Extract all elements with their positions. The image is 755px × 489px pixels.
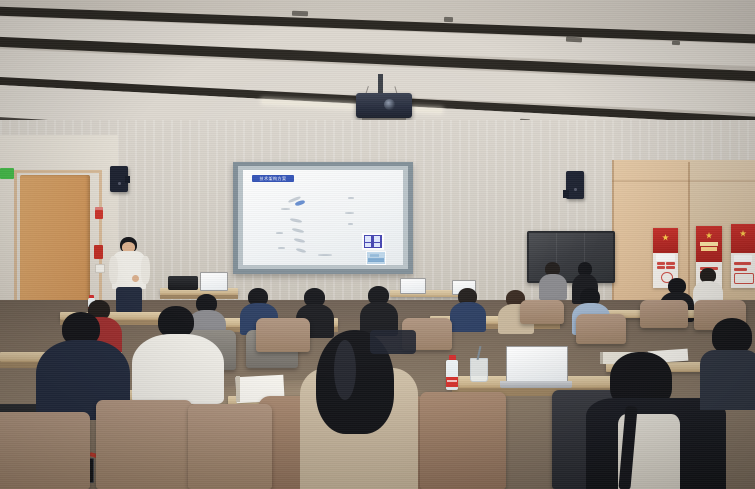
attendee-white-body	[132, 334, 224, 404]
slide-thumbnail-chart	[362, 233, 384, 250]
presenter-arm-right	[141, 256, 150, 284]
speaker-bracket-left	[125, 176, 130, 183]
exit-sign	[0, 168, 14, 179]
slide-thumbnail-image	[366, 251, 386, 265]
slide-title-text: 技术架构方案	[252, 175, 294, 182]
fire-alarm-box-upper	[95, 207, 103, 219]
attendee-edge-head	[712, 318, 752, 354]
chair[interactable]	[640, 300, 688, 328]
water-bottle[interactable]	[446, 360, 458, 390]
banner-header	[653, 228, 678, 253]
front-monitor	[200, 272, 228, 291]
laptop-open-base[interactable]	[500, 381, 572, 388]
presenter-hand	[132, 275, 139, 282]
drink-cup[interactable]	[470, 358, 488, 382]
wall-display[interactable]	[527, 231, 615, 283]
slide-mark-11	[345, 212, 354, 214]
banner-text-line	[666, 262, 674, 265]
attendee-right-back-body	[539, 274, 567, 300]
presenter-arm-left	[109, 256, 118, 284]
bottle-cap	[449, 355, 456, 360]
banner-headline	[700, 242, 719, 246]
slide-mark-10	[348, 197, 354, 199]
ceiling-spotlight-3	[566, 37, 582, 43]
attendee-foreground-woman-hairshine	[334, 340, 356, 400]
chair-foreground-left2[interactable]	[96, 400, 192, 489]
chair-foreground-right[interactable]	[420, 392, 506, 489]
entry-door[interactable]	[20, 175, 90, 305]
presenter-legs	[116, 287, 142, 313]
banner-headline-sub	[701, 247, 717, 251]
chair-foreground-left[interactable]	[0, 412, 90, 489]
chair-foreground-mid[interactable]	[188, 404, 272, 489]
banner-emblem-icon	[706, 232, 713, 239]
roll-up-banner-3	[731, 224, 755, 288]
backpack[interactable]	[370, 330, 416, 354]
bottle-label	[446, 377, 458, 387]
chair[interactable]	[520, 300, 564, 324]
projector-lens-icon	[384, 99, 395, 110]
slide-mark-12	[348, 223, 353, 225]
banner-caption-bar	[734, 255, 752, 262]
wood-panel-seam-3	[612, 180, 755, 182]
banner-text-line	[666, 266, 674, 269]
notebook-spine	[236, 376, 240, 402]
conference-room-photo: 技术架构方案	[0, 0, 755, 489]
bottle-cap	[89, 295, 94, 298]
wall-switch-plate[interactable]	[95, 264, 105, 273]
ceiling-spotlight-2	[444, 17, 453, 22]
fire-alarm-box-lower	[94, 245, 103, 259]
banner-box	[734, 273, 753, 284]
wood-panel-seam-1	[688, 162, 690, 310]
speaker-bracket-right	[563, 190, 569, 198]
banner-text-line	[657, 262, 665, 265]
banner-emblem-icon	[740, 230, 747, 237]
front-laptop	[168, 276, 198, 290]
slide-mark-9	[278, 247, 285, 249]
laptop-open-screen[interactable]	[506, 346, 568, 384]
chair[interactable]	[576, 314, 626, 344]
slide-mark-13	[318, 254, 332, 256]
slide-mark-8	[276, 232, 283, 234]
banner-text-line	[657, 266, 665, 269]
chair[interactable]	[256, 318, 310, 352]
banner-caption-bar	[656, 254, 675, 261]
attendee-blue2-body	[450, 302, 486, 332]
ceiling-spotlight-1	[292, 11, 308, 17]
banner-text-line	[734, 262, 751, 265]
banner-header	[731, 224, 755, 253]
banner-emblem-icon	[662, 234, 669, 241]
front-laptop-right	[400, 278, 426, 294]
attendee-edge-body	[700, 350, 755, 410]
slide-title-bar: 技术架构方案	[252, 175, 294, 182]
slide-mark-3	[281, 208, 290, 210]
ceiling-spotlight-4	[672, 41, 680, 45]
banner-text-line	[734, 268, 747, 271]
